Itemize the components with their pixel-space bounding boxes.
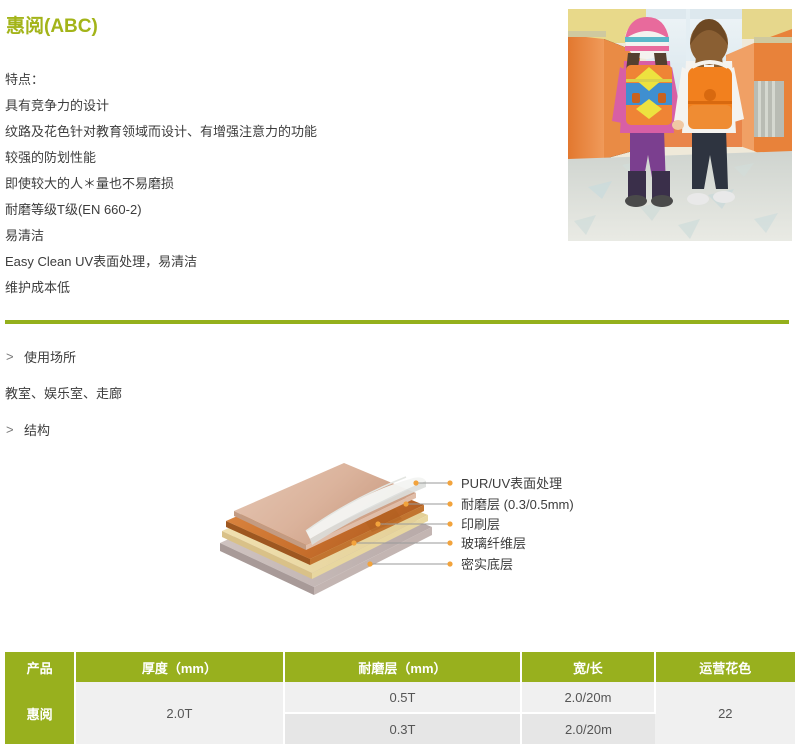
feature-item: 耐磨等级T级(EN 660-2) (5, 197, 550, 223)
section-header-label: 结构 (24, 420, 50, 439)
section-divider (5, 320, 789, 324)
column-header-pattern: 运营花色 (655, 652, 795, 682)
table-header-row: 产品 厚度（mm） 耐磨层（mm） 宽/长 运营花色 (5, 652, 795, 682)
structure-layer-label: 玻璃纤维层 (461, 536, 526, 551)
structure-layer-label: 密实底层 (461, 557, 513, 572)
cell-wear-layer: 0.5T (284, 682, 522, 713)
feature-item: Easy Clean UV表面处理，易清洁 (5, 249, 550, 275)
cell-size: 2.0/20m (521, 713, 654, 744)
spec-table: 产品 厚度（mm） 耐磨层（mm） 宽/长 运营花色 惠阅 2.0T 0.5T … (5, 652, 795, 744)
product-photo (568, 9, 792, 241)
feature-item: 具有竞争力的设计 (5, 93, 550, 119)
column-header-product: 产品 (5, 652, 75, 682)
section-header-structure[interactable]: > 结构 (6, 420, 50, 439)
structure-layer-label: 印刷层 (461, 517, 500, 532)
section-header-label: 使用场所 (24, 347, 76, 366)
feature-item: 较强的防划性能 (5, 145, 550, 171)
column-header-thickness: 厚度（mm） (75, 652, 284, 682)
page-title: 惠阅(ABC) (6, 11, 98, 38)
feature-item: 即使较大的人＊量也不易磨损 (5, 171, 550, 197)
features-block: 特点： 具有竞争力的设计 纹路及花色针对教育领域而设计、有增强注意力的功能 较强… (5, 67, 550, 301)
table-row: 惠阅 2.0T 0.5T 2.0/20m 22 (5, 682, 795, 713)
cell-pattern: 22 (655, 682, 795, 744)
column-header-wear: 耐磨层（mm） (284, 652, 522, 682)
section-header-usage[interactable]: > 使用场所 (6, 347, 76, 366)
cell-size: 2.0/20m (521, 682, 654, 713)
chevron-right-icon: > (6, 350, 15, 363)
structure-layer-label: 耐磨层 (0.3/0.5mm) (461, 497, 574, 512)
column-header-size: 宽/长 (521, 652, 654, 682)
cell-product: 惠阅 (5, 682, 75, 744)
feature-item: 维护成本低 (5, 275, 550, 301)
cell-thickness: 2.0T (75, 682, 284, 744)
section-body-usage: 教室、娱乐室、走廊 (5, 383, 122, 402)
cell-wear-layer: 0.3T (284, 713, 522, 744)
feature-item: 易清洁 (5, 223, 550, 249)
feature-item: 纹路及花色针对教育领域而设计、有增强注意力的功能 (5, 119, 550, 145)
structure-diagram: PUR/UV表面处理 耐磨层 (0.3/0.5mm) 印刷层 玻璃纤维层 密实底… (210, 455, 630, 605)
structure-layer-label: PUR/UV表面处理 (461, 476, 562, 491)
chevron-right-icon: > (6, 423, 15, 436)
features-heading: 特点： (5, 67, 550, 93)
